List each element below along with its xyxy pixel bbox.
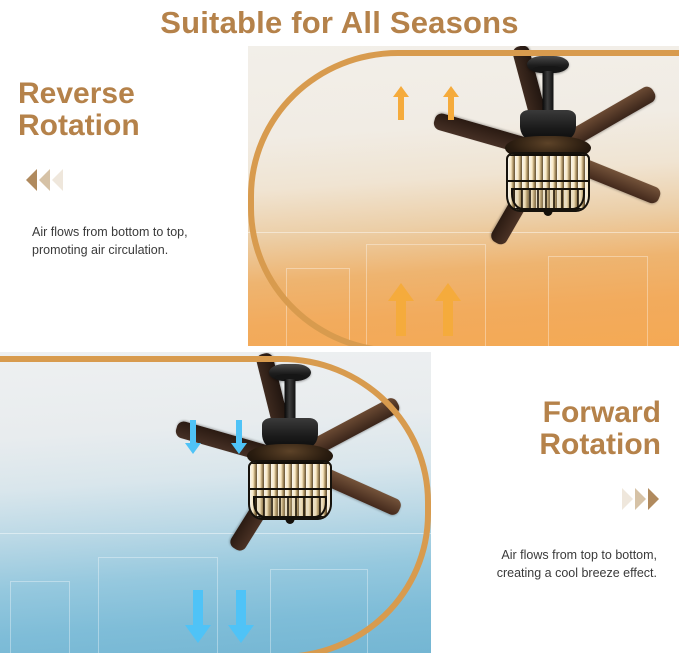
- chevron-right-icon-1: [622, 488, 633, 510]
- airflow-arrow-up-small-right: [443, 86, 459, 120]
- airflow-arrow-down-large-right: [228, 590, 254, 643]
- heading-line-1: Forward: [427, 397, 661, 429]
- chevron-left-icon-3: [52, 169, 63, 191]
- airflow-arrow-up-small-left: [393, 86, 409, 120]
- airflow-arrow-up-large-right: [435, 283, 461, 336]
- body-text-reverse: Air flows from bottom to top, promoting …: [32, 223, 252, 259]
- panel-forward-rotation: Forward Rotation Air flows from top to b…: [0, 352, 679, 653]
- page-title: Suitable for All Seasons: [160, 5, 519, 41]
- heading-line-1: Reverse: [18, 78, 252, 110]
- fan-downrod: [285, 379, 296, 423]
- fan-photo-reverse: [248, 46, 679, 346]
- body-text-forward: Air flows from top to bottom, creating a…: [427, 546, 657, 582]
- text-block-forward: Forward Rotation Air flows from top to b…: [427, 352, 675, 653]
- ceiling-fan-forward: [140, 360, 431, 650]
- light-finial: [286, 516, 295, 524]
- heading-reverse-rotation: Reverse Rotation: [18, 78, 252, 143]
- chevron-left-icon-2: [39, 169, 50, 191]
- chevron-right-icon-3: [648, 488, 659, 510]
- airflow-arrow-down-large-left: [185, 590, 211, 643]
- airflow-arrow-up-large-left: [388, 283, 414, 336]
- chevron-left-icon-1: [26, 169, 37, 191]
- text-block-reverse: Reverse Rotation Air flows from bottom t…: [4, 46, 252, 346]
- panel-reverse-rotation: Reverse Rotation Air flows from bottom t…: [0, 46, 679, 346]
- light-cage: [511, 188, 585, 210]
- page-title-bar: Suitable for All Seasons: [0, 0, 679, 46]
- fan-downrod: [543, 71, 554, 115]
- airflow-arrow-down-small-right: [231, 420, 247, 454]
- airflow-arrow-down-small-left: [185, 420, 201, 454]
- chevron-right-icon-2: [635, 488, 646, 510]
- light-cage: [253, 496, 327, 518]
- heading-line-2: Rotation: [427, 429, 661, 461]
- chevrons-reverse: [26, 169, 252, 191]
- fan-photo-forward: [0, 352, 431, 653]
- heading-forward-rotation: Forward Rotation: [427, 397, 661, 462]
- chevrons-forward: [427, 488, 659, 510]
- light-finial: [544, 208, 553, 216]
- heading-line-2: Rotation: [18, 110, 252, 142]
